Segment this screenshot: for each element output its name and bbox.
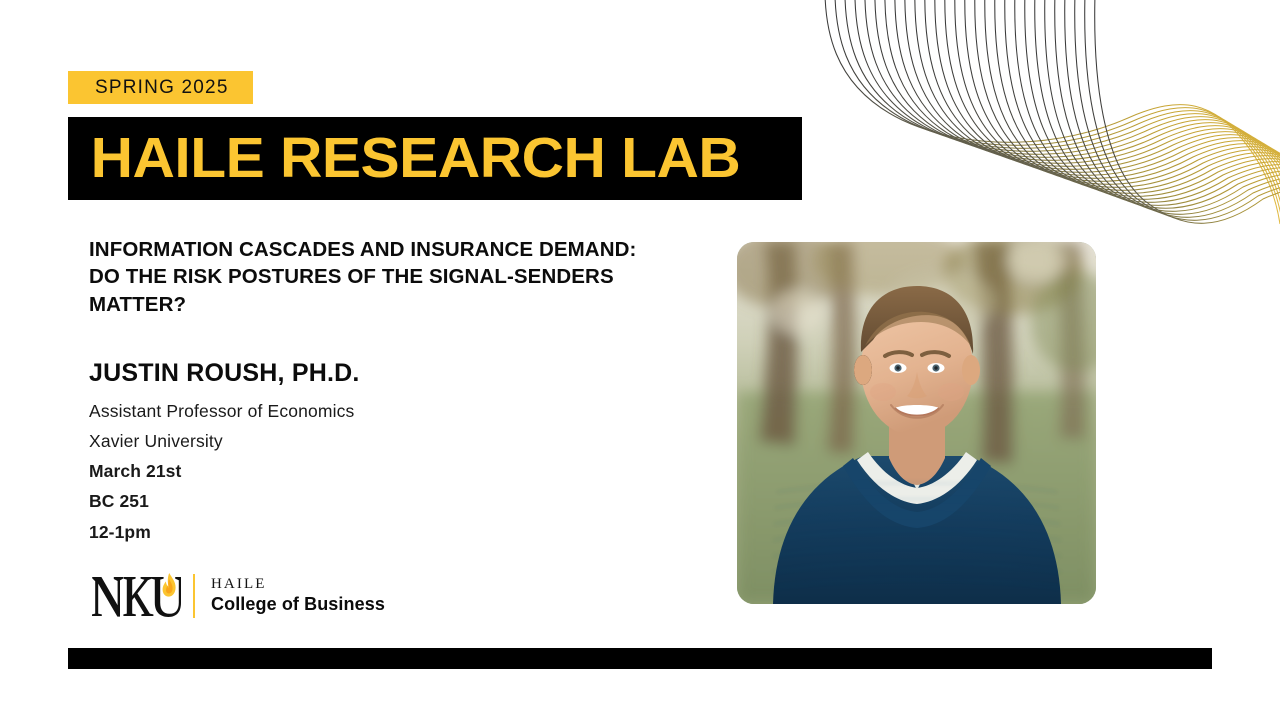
event-date: March 21st [89,456,689,486]
wave-lines-decoration [810,0,1280,232]
speaker-name: JUSTIN ROUSH, PH.D. [89,358,689,389]
event-time: 12-1pm [89,517,689,547]
logo-words: HAILE College of Business [211,576,385,616]
bottom-rule [68,648,1212,669]
logo-divider [193,574,195,618]
season-badge: SPRING 2025 [68,71,253,104]
speaker-role: Assistant Professor of Economics [89,396,689,426]
content-column: INFORMATION CASCADES AND INSURANCE DEMAN… [89,236,689,547]
speaker-affiliation: Xavier University [89,426,689,456]
season-badge-label: SPRING 2025 [95,77,229,99]
talk-title: INFORMATION CASCADES AND INSURANCE DEMAN… [89,236,669,318]
speaker-block: JUSTIN ROUSH, PH.D. Assistant Professor … [89,358,689,547]
logo-unit-name: HAILE [211,576,385,593]
logo-unit-subtitle: College of Business [211,594,385,616]
speaker-photo [737,242,1096,604]
nku-wordmark-icon [89,572,181,620]
nku-haile-logo: HAILE College of Business [89,570,385,622]
lab-title-banner: HAILE RESEARCH LAB [68,117,802,200]
flyer-slide: SPRING 2025 HAILE RESEARCH LAB INFORMATI… [0,0,1280,720]
lab-title-text: HAILE RESEARCH LAB [68,130,740,187]
event-location: BC 251 [89,486,689,516]
